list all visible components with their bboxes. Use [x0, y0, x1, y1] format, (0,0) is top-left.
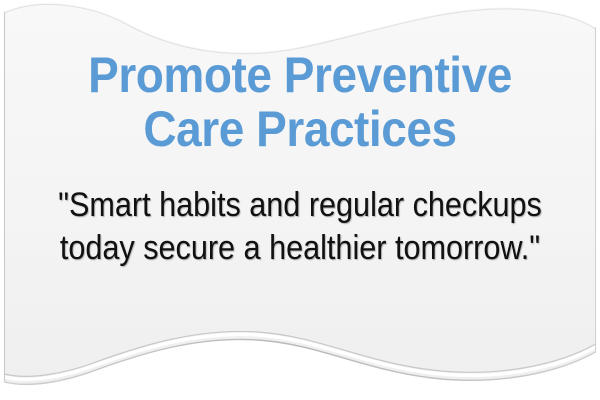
title-line-2: Care Practices — [37, 102, 563, 156]
slide-content: Promote Preventive Care Practices "Smart… — [0, 0, 600, 400]
quote-line-2: today secure a healthier tomorrow." — [43, 227, 558, 270]
quote-line-1: "Smart habits and regular checkups — [43, 184, 558, 227]
slide-canvas: Promote Preventive Care Practices "Smart… — [0, 0, 600, 400]
title-line-1: Promote Preventive — [37, 48, 563, 102]
slide-title: Promote Preventive Care Practices — [37, 48, 563, 156]
slide-quote: "Smart habits and regular checkups today… — [43, 184, 558, 269]
